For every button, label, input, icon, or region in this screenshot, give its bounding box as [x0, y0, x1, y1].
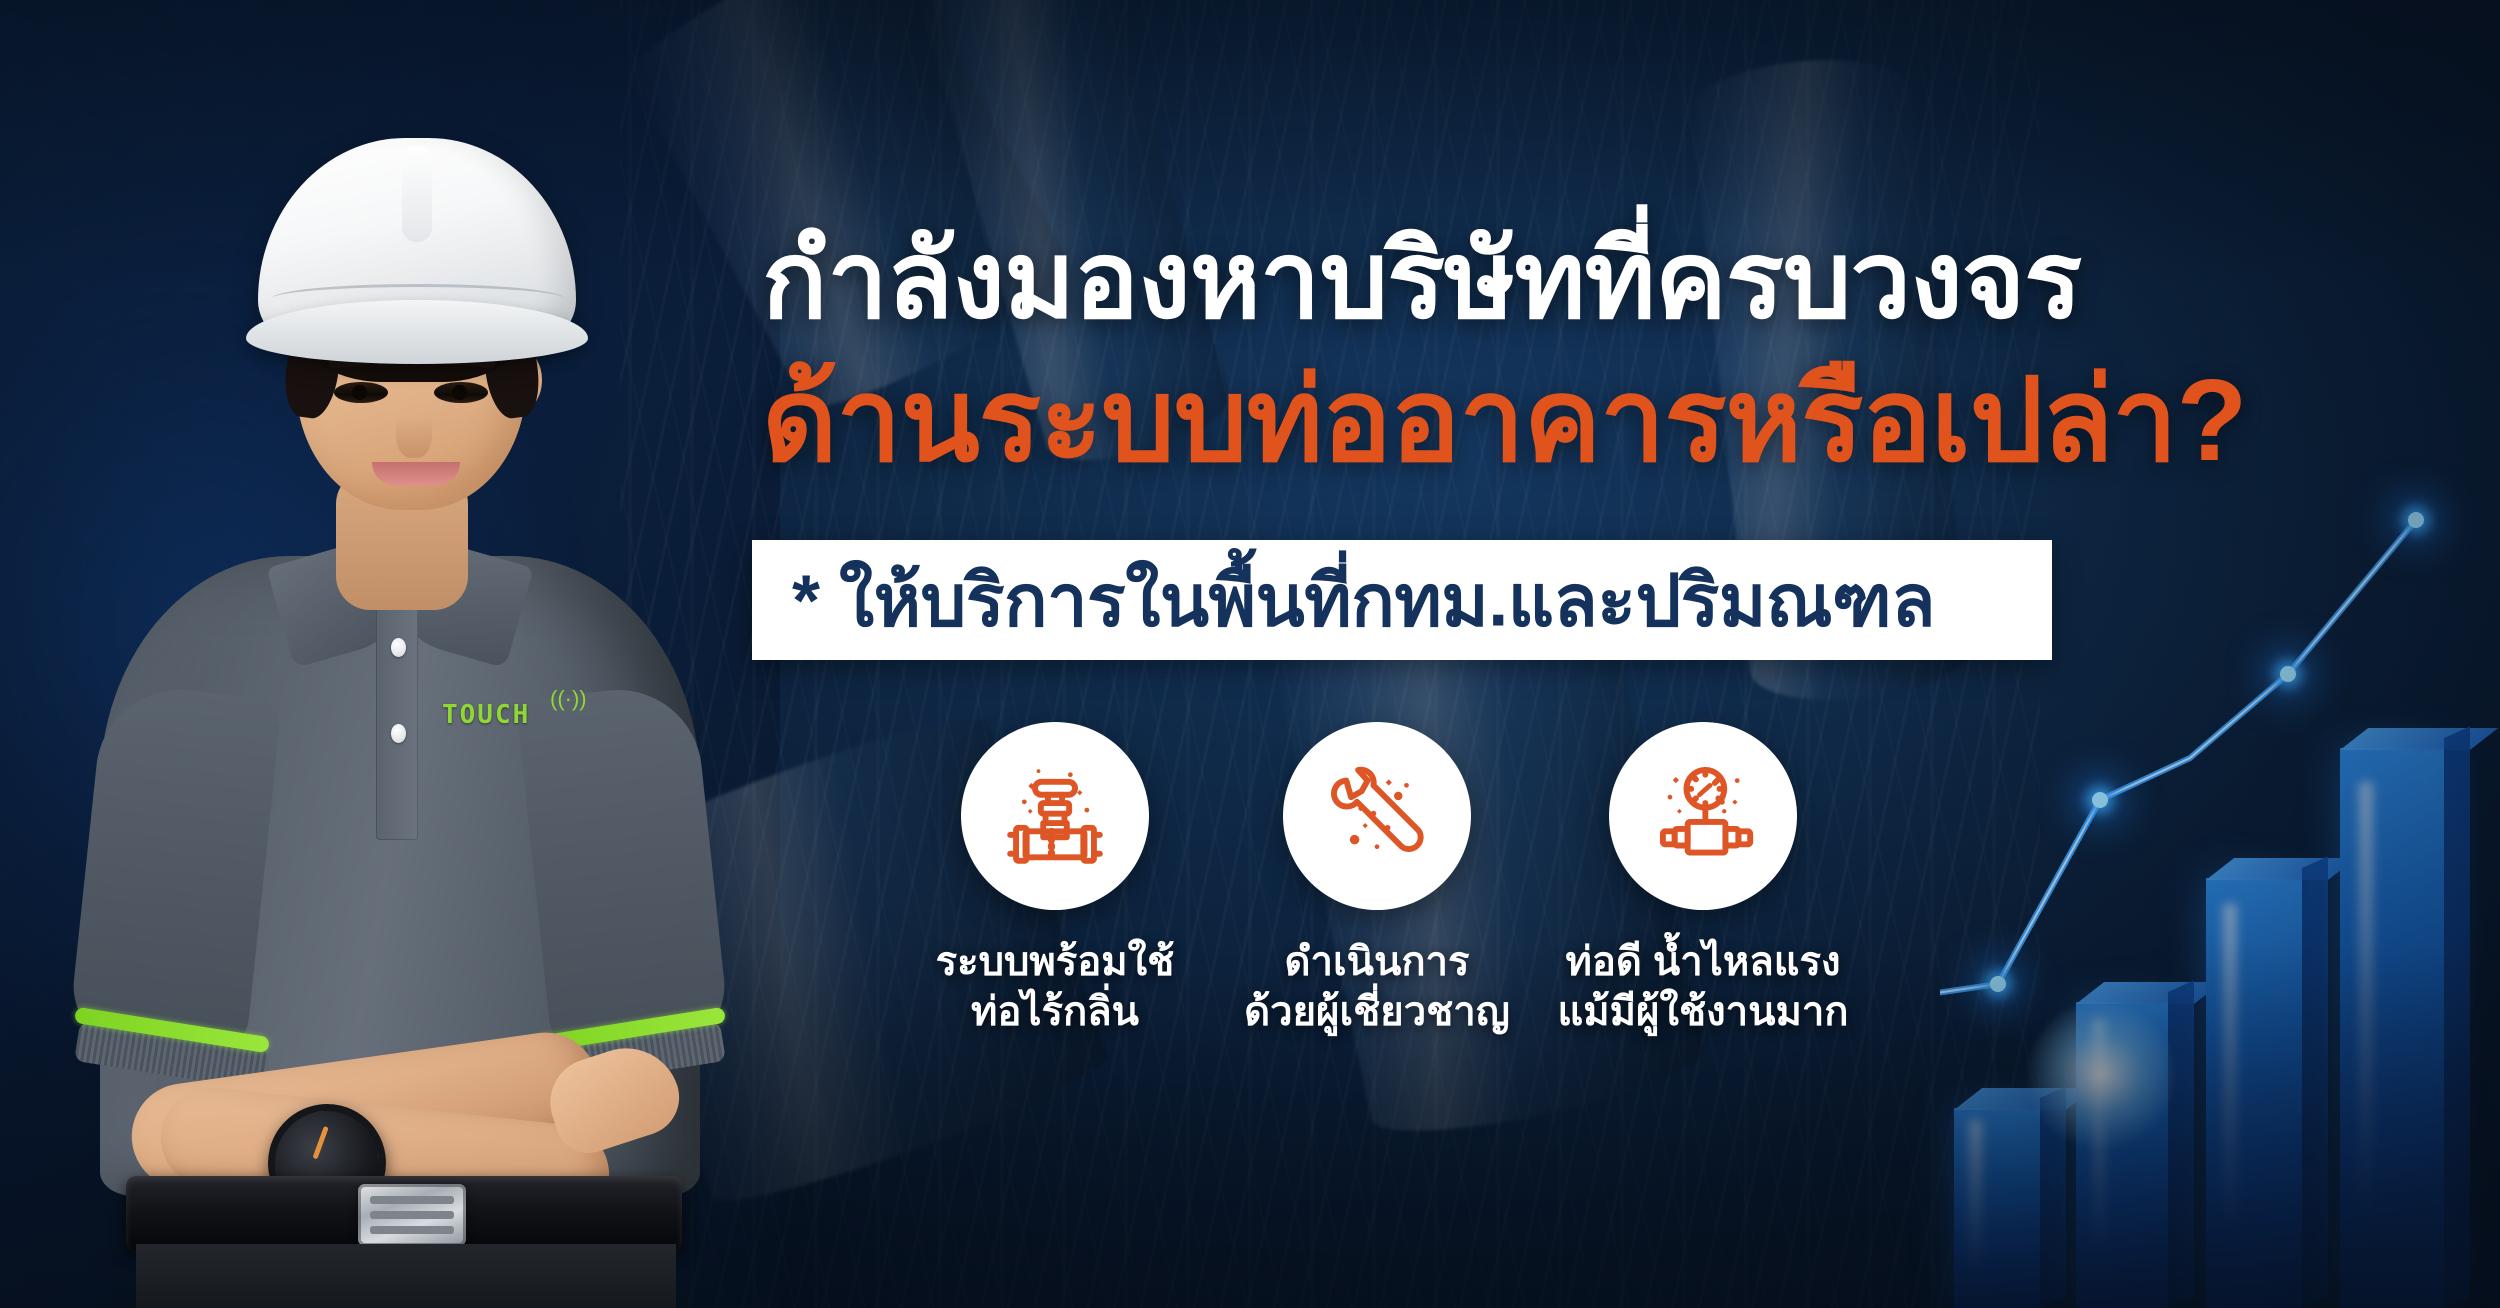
person-mouth	[372, 462, 460, 486]
shirt-button-1	[391, 638, 406, 657]
feature-icon-circle-2	[1283, 722, 1471, 910]
promo-banner: TOUCH ((·)) กำ	[0, 0, 2500, 1308]
headline-line-1: กำลังมองหาบริษัทที่ครบวงจร	[762, 222, 2422, 339]
service-area-band: * ให้บริการในพื้นที่กทม.และปริมณฑล	[752, 540, 2052, 660]
wrench-icon	[1318, 757, 1436, 875]
person-nose	[396, 400, 432, 458]
shirt-logo-text: TOUCH	[442, 700, 530, 730]
pipe-valve-icon	[996, 757, 1114, 875]
service-area-text: * ให้บริการในพื้นที่กทม.และปริมณฑล	[792, 543, 1935, 658]
feature-list: ระบบพร้อมใช้ ท่อไร้กลิ่น	[905, 722, 2135, 1122]
feature-label-3: ท่อดี น้ำไหลแรง แม้มีผู้ใช้งานมาก	[1503, 938, 1903, 1037]
pressure-gauge-pipe-icon	[1644, 757, 1762, 875]
hard-hat-ridge	[402, 146, 432, 242]
feature-label-3-line-1: ท่อดี น้ำไหลแรง	[1503, 938, 1903, 988]
shirt-logo-waves-icon: ((·))	[550, 688, 584, 714]
shirt-button-2	[391, 724, 406, 743]
trousers	[136, 1244, 676, 1308]
belt	[126, 1176, 682, 1252]
feature-label-3-line-2: แม้มีผู้ใช้งานมาก	[1503, 988, 1903, 1038]
feature-item-3[interactable]: ท่อดี น้ำไหลแรง แม้มีผู้ใช้งานมาก	[1503, 722, 1903, 1037]
person-eye-right	[434, 382, 488, 403]
belt-buckle	[358, 1184, 466, 1246]
shirt-placket	[376, 600, 418, 840]
engineer-photo: TOUCH ((·))	[10, 0, 770, 1308]
headline-line-2: ด้านระบบท่ออาคารหรือเปล่า?	[762, 358, 2500, 483]
person-eye-left	[334, 382, 388, 403]
feature-icon-circle-1	[961, 722, 1149, 910]
feature-icon-circle-3	[1609, 722, 1797, 910]
